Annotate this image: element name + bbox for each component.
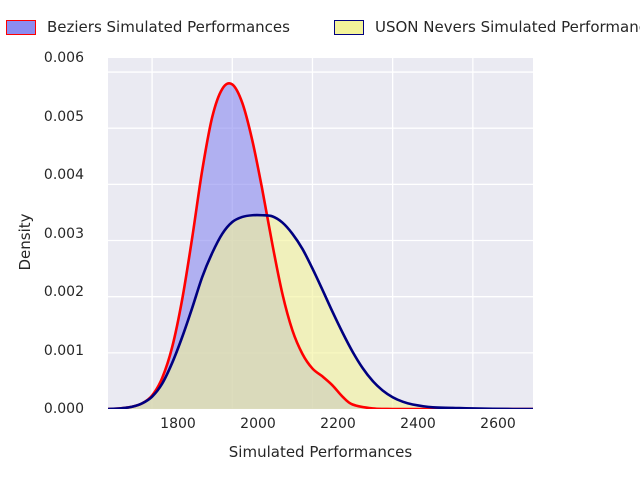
y-tick-label: 0.001	[14, 343, 84, 359]
y-tick-label: 0.005	[14, 109, 84, 125]
legend-entry-uson-nevers: USON Nevers Simulated Performances	[334, 18, 640, 36]
legend-label-uson-nevers: USON Nevers Simulated Performances	[375, 18, 640, 36]
y-tick-label: 0.000	[14, 401, 84, 417]
legend-entry-beziers: Beziers Simulated Performances	[6, 18, 290, 36]
x-tick-label: 2000	[218, 416, 298, 432]
density-plot-figure: Beziers Simulated Performances USON Neve…	[0, 0, 640, 480]
color-swatch-icon	[6, 20, 36, 35]
x-axis-label: Simulated Performances	[108, 443, 533, 461]
x-tick-label: 2400	[378, 416, 458, 432]
y-tick-label: 0.004	[14, 167, 84, 183]
x-tick-label: 2200	[298, 416, 378, 432]
plot-canvas	[108, 58, 533, 409]
x-tick-label: 1800	[138, 416, 218, 432]
legend-label-beziers: Beziers Simulated Performances	[47, 18, 290, 36]
y-axis-label: Density	[16, 182, 34, 302]
plot-area	[108, 58, 533, 409]
x-tick-label: 2600	[458, 416, 538, 432]
series-fill-uson-nevers	[108, 215, 533, 409]
color-swatch-icon	[334, 20, 364, 35]
chart-legend: Beziers Simulated Performances USON Neve…	[0, 14, 640, 40]
y-tick-label: 0.006	[14, 50, 84, 66]
